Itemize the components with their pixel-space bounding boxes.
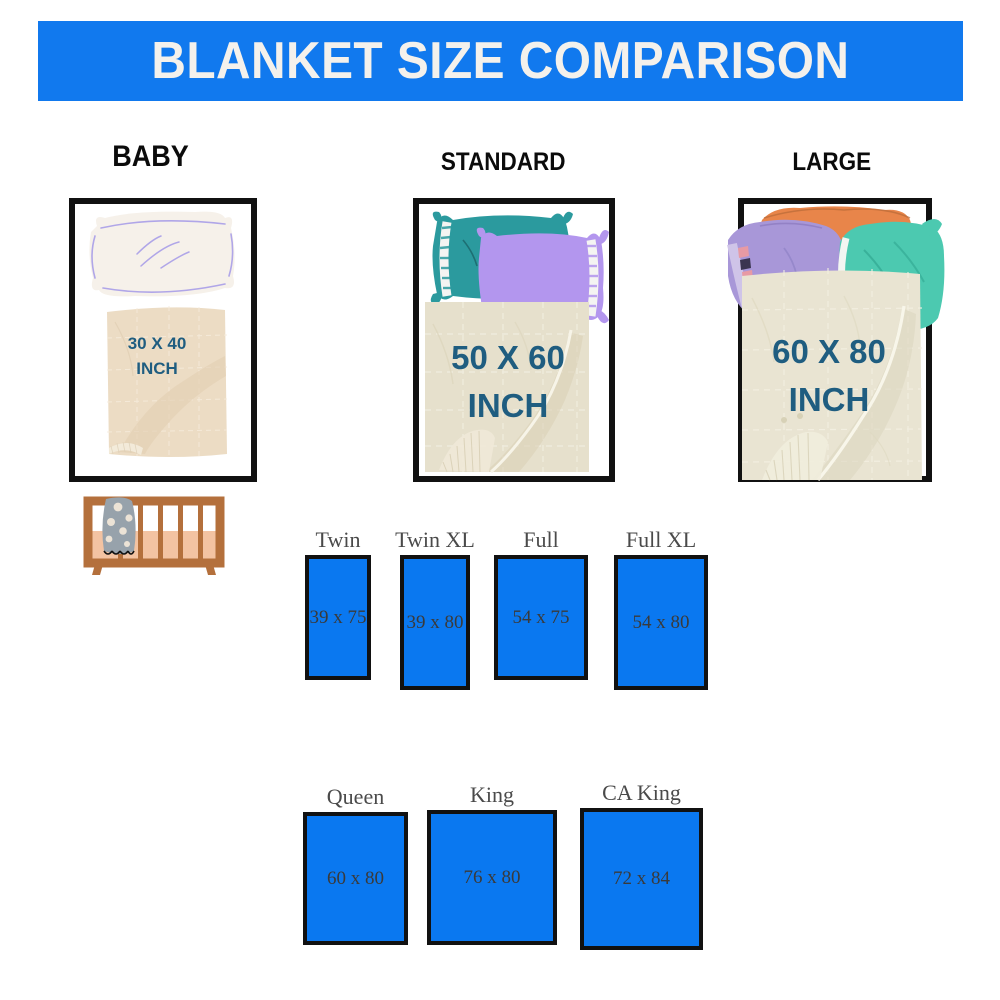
large-blanket-illustration (744, 204, 926, 476)
baby-blanket-illustration (75, 204, 251, 476)
mattress-dimension: 76 x 80 (464, 867, 521, 889)
blanket-shape (742, 268, 922, 480)
crib-illustration (78, 487, 230, 575)
mattress-label: Twin (316, 527, 361, 553)
mattress-label: King (470, 782, 514, 808)
mattress-label: Full (523, 527, 558, 553)
blanket-panel-large (738, 198, 932, 482)
mattress-label: Twin XL (395, 527, 475, 553)
crib-blanket (102, 497, 135, 554)
standard-blanket-illustration (419, 204, 609, 476)
blanket-panel-standard (413, 198, 615, 482)
infographic-canvas: BLANKET SIZE COMPARISON BABY STANDARD LA… (0, 0, 1000, 1000)
header-banner: BLANKET SIZE COMPARISON (38, 21, 963, 101)
section-label-standard: STANDARD (441, 148, 566, 177)
mattress-king[interactable]: King 76 x 80 (427, 810, 557, 945)
mattress-label: Full XL (626, 527, 696, 553)
mattress-label: Queen (327, 784, 384, 810)
page-title: BLANKET SIZE COMPARISON (151, 35, 849, 87)
blanket-shape (425, 302, 589, 472)
pillow-cream-icon (89, 212, 234, 297)
mattress-ca-king[interactable]: CA King 72 x 84 (580, 808, 703, 950)
blanket-shape (107, 306, 227, 457)
section-label-baby: BABY (112, 140, 189, 174)
mattress-twin-xl[interactable]: Twin XL 39 x 80 (400, 555, 470, 690)
mattress-twin[interactable]: Twin 39 x 75 (305, 555, 371, 680)
mattress-dimension: 54 x 80 (633, 612, 690, 634)
mattress-dimension: 54 x 75 (513, 607, 570, 629)
section-label-large: LARGE (792, 148, 871, 177)
mattress-dimension: 39 x 80 (407, 612, 464, 634)
mattress-dimension: 72 x 84 (613, 868, 670, 890)
mattress-dimension: 39 x 75 (310, 607, 367, 629)
mattress-dimension: 60 x 80 (327, 868, 384, 890)
blanket-panel-baby (69, 198, 257, 482)
mattress-full-xl[interactable]: Full XL 54 x 80 (614, 555, 708, 690)
mattress-full[interactable]: Full 54 x 75 (494, 555, 588, 680)
mattress-label: CA King (602, 780, 681, 806)
mattress-queen[interactable]: Queen 60 x 80 (303, 812, 408, 945)
